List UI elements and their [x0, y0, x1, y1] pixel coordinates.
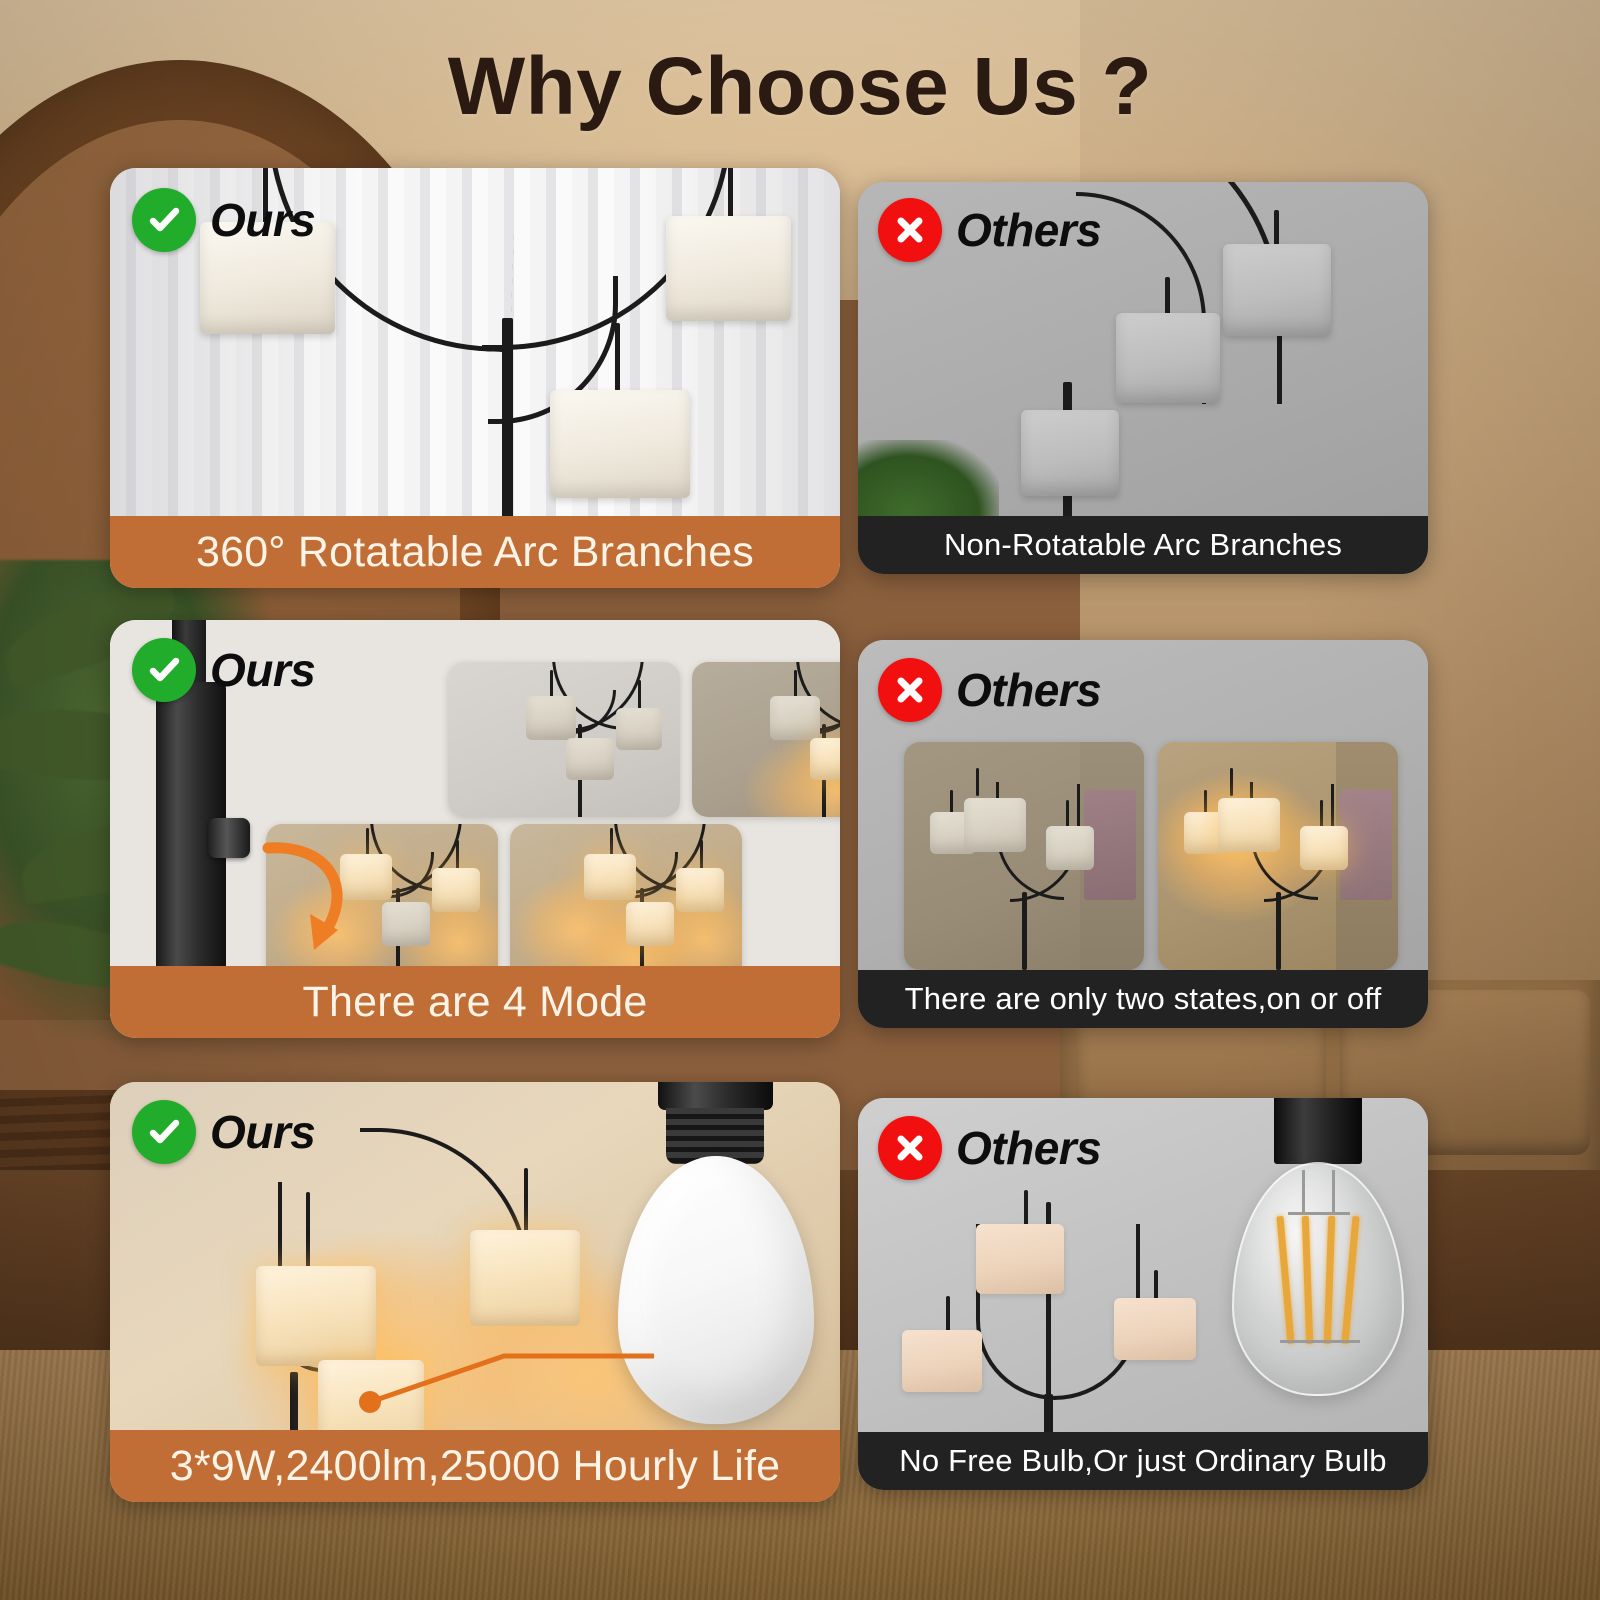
badge-label: Ours: [210, 643, 315, 697]
lamp-shade-top: [1223, 244, 1331, 336]
check-circle-icon: [132, 638, 196, 702]
page-title: Why Choose Us ?: [0, 46, 1600, 128]
badge-label: Ours: [210, 1105, 315, 1159]
rotary-switch-knob[interactable]: [208, 818, 250, 858]
lamp-shade-top: [976, 1224, 1064, 1294]
caption-text: No Free Bulb,Or just Ordinary Bulb: [899, 1443, 1386, 1479]
shade-hanger-right: [728, 168, 733, 218]
badge-ours-rotation: Ours: [132, 188, 315, 252]
mode-thumb-all-off: [448, 662, 680, 817]
state-thumb-off: [904, 742, 1144, 970]
badge-ours-bulb: Ours: [132, 1100, 315, 1164]
caption-text: There are 4 Mode: [303, 978, 648, 1027]
caption-others-modes: There are only two states,on or off: [858, 970, 1428, 1028]
badge-others-bulb: Others: [878, 1116, 1101, 1180]
lamp-shade-left: [902, 1330, 982, 1392]
x-circle-icon: [878, 1116, 942, 1180]
mode-thumb-three-on: [510, 824, 742, 982]
badge-others-modes: Others: [878, 658, 1101, 722]
callout-line-icon: [354, 1298, 684, 1418]
caption-ours-rotation: 360° Rotatable Arc Branches: [110, 516, 840, 588]
shade-hanger-center: [615, 323, 620, 391]
caption-others-bulb: No Free Bulb,Or just Ordinary Bulb: [858, 1432, 1428, 1490]
shade-hanger-right: [524, 1168, 528, 1232]
comparison-grid: Ours 360° Rotatable Arc Branches Others: [0, 0, 1600, 1600]
caption-others-rotation: Non-Rotatable Arc Branches: [858, 516, 1428, 574]
check-circle-icon: [132, 188, 196, 252]
panel-others-modes: Others There are only two states,on or o…: [858, 640, 1428, 1028]
lamp-shade-right: [1114, 1298, 1196, 1360]
badge-label: Others: [956, 663, 1101, 717]
check-circle-icon: [132, 1100, 196, 1164]
panel-others-bulb: Others No Free Bulb,Or just Ordinary Bul…: [858, 1098, 1428, 1490]
mode-thumb-one-on: [692, 662, 840, 817]
badge-label: Others: [956, 1121, 1101, 1175]
panel-ours-rotation: Ours 360° Rotatable Arc Branches: [110, 168, 840, 588]
lamp-shade-right: [666, 216, 791, 321]
shade-hanger-left: [306, 1192, 310, 1270]
bulb-base-cap: [658, 1082, 773, 1110]
x-circle-icon: [878, 658, 942, 722]
lamp-shade-mid: [1116, 313, 1220, 403]
caption-text: Non-Rotatable Arc Branches: [944, 527, 1342, 563]
caption-text: 3*9W,2400lm,25000 Hourly Life: [170, 1442, 781, 1491]
rotary-switch-arrow-icon: [250, 830, 380, 965]
caption-ours-bulb: 3*9W,2400lm,25000 Hourly Life: [110, 1430, 840, 1502]
badge-ours-modes: Ours: [132, 638, 315, 702]
badge-label: Others: [956, 203, 1101, 257]
bulb-base-cap: [1274, 1098, 1362, 1164]
caption-text: 360° Rotatable Arc Branches: [196, 528, 754, 577]
panel-others-rotation: Others Non-Rotatable Arc Branches: [858, 182, 1428, 574]
badge-label: Ours: [210, 193, 315, 247]
state-thumb-on: [1158, 742, 1398, 970]
panel-ours-modes: Ours There are 4 Mode: [110, 620, 840, 1038]
caption-ours-modes: There are 4 Mode: [110, 966, 840, 1038]
caption-text: There are only two states,on or off: [905, 981, 1382, 1017]
panel-ours-bulb: Ours 3*9W,2400lm,25000 Hourly Life: [110, 1082, 840, 1502]
lamp-shade-bottom: [1021, 410, 1119, 496]
shade-hanger-top: [1274, 210, 1279, 248]
lamp-shade-center: [550, 390, 690, 498]
badge-others-rotation: Others: [878, 198, 1101, 262]
x-circle-icon: [878, 198, 942, 262]
